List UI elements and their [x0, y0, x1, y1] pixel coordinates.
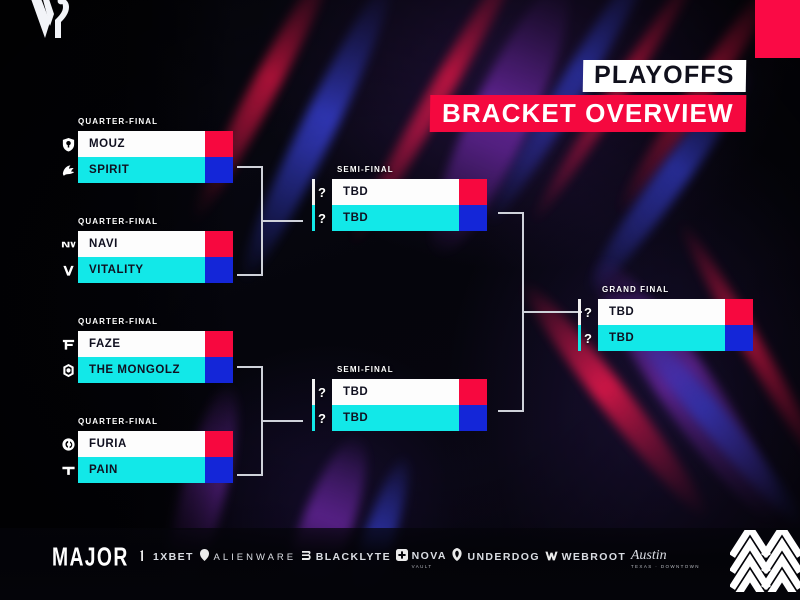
- score-box: [205, 231, 233, 257]
- team-name: TBD: [332, 405, 459, 431]
- round-label-qf3: QUARTER-FINAL: [78, 317, 158, 326]
- team-row[interactable]: SPIRIT: [78, 157, 233, 183]
- team-name: FURIA: [78, 431, 205, 457]
- sponsor-label: ALIENWARE: [214, 552, 297, 563]
- match-qf2[interactable]: NAVI VITALITY: [58, 231, 233, 283]
- question-mark-icon: ?: [578, 299, 598, 325]
- question-glyph: ?: [584, 306, 592, 319]
- furia-logo: [58, 431, 78, 457]
- match-qf1-body: MOUZ SPIRIT: [78, 131, 233, 183]
- match-qf3-logos: [58, 331, 78, 383]
- sponsor-webroot: WEBROOT: [545, 548, 627, 566]
- score-box: [459, 379, 487, 405]
- sponsor-blacklyte: BLACKLYTE: [301, 548, 391, 566]
- match-sf1-logos: ? ?: [312, 179, 332, 231]
- round-label-sf1: SEMI-FINAL: [337, 165, 394, 174]
- team-name: PAIN: [78, 457, 205, 483]
- match-sf2-accent: [312, 379, 315, 431]
- question-mark-icon: ?: [578, 325, 598, 351]
- match-grand-final[interactable]: ? ? TBD TBD: [578, 299, 753, 351]
- match-qf1[interactable]: MOUZ SPIRIT: [58, 131, 233, 183]
- match-sf1[interactable]: ? ? TBD TBD: [312, 179, 487, 231]
- vitality-logo: [58, 257, 78, 283]
- match-sf1-accent: [312, 179, 315, 231]
- question-mark-icon: ?: [312, 405, 332, 431]
- score-box: [459, 405, 487, 431]
- footer-major-logo: MAJOR: [52, 543, 129, 573]
- team-name: TBD: [598, 299, 725, 325]
- score-box: [205, 331, 233, 357]
- spirit-logo: [58, 157, 78, 183]
- austin-script-logo: Austin TEXAS · DOWNTOWN: [631, 546, 700, 569]
- team-name: FAZE: [78, 331, 205, 357]
- question-glyph: ?: [318, 186, 326, 199]
- team-row[interactable]: TBD: [332, 179, 487, 205]
- match-gf-body: TBD TBD: [598, 299, 753, 351]
- team-row[interactable]: TBD: [332, 405, 487, 431]
- question-mark-icon: ?: [312, 179, 332, 205]
- sponsor-sublabel: TEXAS · DOWNTOWN: [631, 564, 700, 569]
- round-label-qf4: QUARTER-FINAL: [78, 417, 158, 426]
- team-name: SPIRIT: [78, 157, 205, 183]
- question-glyph: ?: [318, 212, 326, 225]
- score-box: [725, 325, 753, 351]
- major-event-logo: [28, 0, 78, 38]
- 1xbet-logo: [140, 548, 149, 566]
- webroot-w-icon: [545, 548, 558, 566]
- sponsor-label: NOVA: [412, 550, 447, 562]
- score-box: [459, 205, 487, 231]
- match-qf4[interactable]: FURIA PAIN: [58, 431, 233, 483]
- team-row[interactable]: FURIA: [78, 431, 233, 457]
- question-glyph: ?: [318, 412, 326, 425]
- score-box: [205, 131, 233, 157]
- match-qf2-body: NAVI VITALITY: [78, 231, 233, 283]
- question-mark-icon: ?: [312, 205, 332, 231]
- team-name: MOUZ: [78, 131, 205, 157]
- blacklyte-logo: [301, 548, 312, 566]
- score-box: [459, 179, 487, 205]
- sponsor-austin: Austin TEXAS · DOWNTOWN: [631, 546, 700, 569]
- team-name: TBD: [332, 379, 459, 405]
- team-row[interactable]: TBD: [598, 325, 753, 351]
- match-sf2-logos: ? ?: [312, 379, 332, 431]
- team-name: TBD: [598, 325, 725, 351]
- team-row[interactable]: FAZE: [78, 331, 233, 357]
- page-title: PLAYOFFS BRACKET OVERVIEW: [430, 60, 746, 132]
- title-bracket-overview: BRACKET OVERVIEW: [430, 95, 746, 132]
- mongolz-logo: [58, 357, 78, 383]
- match-qf2-logos: [58, 231, 78, 283]
- chevron-decoration: [730, 530, 800, 592]
- question-glyph: ?: [584, 332, 592, 345]
- match-qf3[interactable]: FAZE THE MONGOLZ: [58, 331, 233, 383]
- round-label-qf1: QUARTER-FINAL: [78, 117, 158, 126]
- team-name: VITALITY: [78, 257, 205, 283]
- match-sf1-body: TBD TBD: [332, 179, 487, 231]
- score-box: [205, 431, 233, 457]
- score-box: [205, 357, 233, 383]
- team-name: TBD: [332, 179, 459, 205]
- match-sf2-body: TBD TBD: [332, 379, 487, 431]
- team-name: THE MONGOLZ: [78, 357, 205, 383]
- faze-logo: [58, 331, 78, 357]
- alienware-alien-head-icon: [199, 548, 210, 566]
- team-row[interactable]: PAIN: [78, 457, 233, 483]
- score-box: [725, 299, 753, 325]
- match-gf-logos: ? ?: [578, 299, 598, 351]
- sponsor-alienware: ALIENWARE: [199, 548, 297, 566]
- mouz-logo: [58, 131, 78, 157]
- match-gf-accent: [578, 299, 581, 351]
- score-box: [205, 457, 233, 483]
- question-glyph: ?: [318, 386, 326, 399]
- question-mark-icon: ?: [312, 379, 332, 405]
- sponsor-label: UNDERDOG: [467, 551, 539, 563]
- match-qf1-logos: [58, 131, 78, 183]
- score-box: [205, 257, 233, 283]
- team-row[interactable]: TBD: [332, 379, 487, 405]
- team-row[interactable]: MOUZ: [78, 131, 233, 157]
- title-playoffs: PLAYOFFS: [583, 60, 746, 92]
- team-row[interactable]: TBD: [332, 205, 487, 231]
- match-qf3-body: FAZE THE MONGOLZ: [78, 331, 233, 383]
- team-name: TBD: [332, 205, 459, 231]
- sponsor-label: WEBROOT: [562, 551, 627, 563]
- pain-logo: [58, 457, 78, 483]
- match-qf4-logos: [58, 431, 78, 483]
- round-label-gf: GRAND FINAL: [602, 285, 669, 294]
- sponsor-bar: 1XBET ALIENWARE BLACKLYTE NOVA VAULT: [140, 544, 700, 570]
- score-box: [205, 157, 233, 183]
- bracket-overview-screen: PLAYOFFS BRACKET OVERVIEW QUARTER-FINAL: [0, 0, 800, 600]
- underdog-logo: [451, 548, 463, 566]
- team-row[interactable]: NAVI: [78, 231, 233, 257]
- sponsor-label-group: NOVA VAULT: [412, 546, 447, 569]
- header-red-block: [755, 0, 800, 58]
- sponsor-label: Austin: [631, 548, 667, 563]
- sponsor-sublabel: VAULT: [412, 564, 447, 569]
- nova-cross-icon: [396, 548, 408, 566]
- navi-logo: [58, 231, 78, 257]
- match-sf2[interactable]: ? ? TBD TBD: [312, 379, 487, 431]
- sponsor-1xbet: 1XBET: [140, 548, 194, 566]
- sponsor-label: 1XBET: [153, 551, 194, 563]
- match-qf4-body: FURIA PAIN: [78, 431, 233, 483]
- round-label-qf2: QUARTER-FINAL: [78, 217, 158, 226]
- round-label-sf2: SEMI-FINAL: [337, 365, 394, 374]
- sponsor-nova-vault: NOVA VAULT: [396, 546, 447, 569]
- team-name: NAVI: [78, 231, 205, 257]
- team-row[interactable]: VITALITY: [78, 257, 233, 283]
- team-row[interactable]: THE MONGOLZ: [78, 357, 233, 383]
- sponsor-underdog: UNDERDOG: [451, 548, 539, 566]
- sponsor-label: BLACKLYTE: [316, 551, 391, 563]
- team-row[interactable]: TBD: [598, 299, 753, 325]
